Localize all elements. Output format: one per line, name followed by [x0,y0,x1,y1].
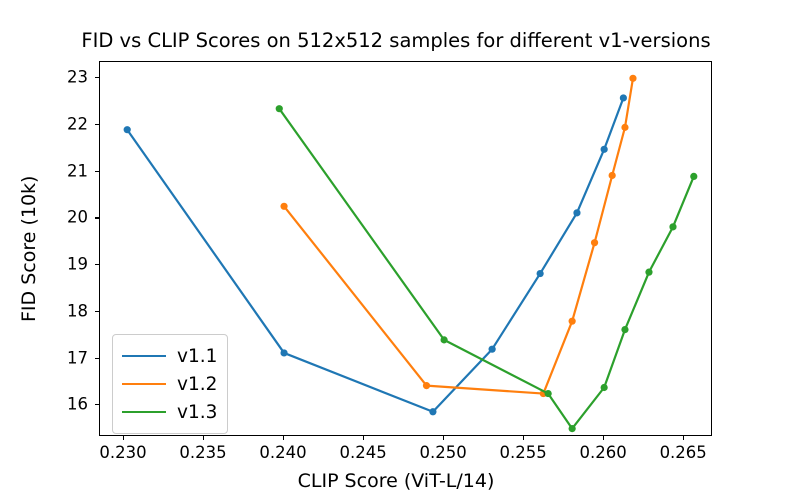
data-point [276,105,283,112]
data-point [620,94,627,101]
legend-item-v1-1[interactable]: v1.1 [122,342,217,370]
data-point [280,349,287,356]
y-axis-label: FID Score (10k) [18,175,40,321]
data-point [545,390,552,397]
data-point [569,425,576,432]
data-point [441,336,448,343]
data-point [645,269,652,276]
legend-item-v1-2[interactable]: v1.2 [122,370,217,398]
y-tick-label: 18 [30,301,88,320]
chart-title: FID vs CLIP Scores on 512x512 samples fo… [0,29,792,52]
data-point [601,384,608,391]
x-tick-label: 0.240 [259,443,306,462]
y-tick-label: 21 [30,161,88,180]
data-point [591,239,598,246]
x-axis-label: CLIP Score (ViT-L/14) [0,470,792,492]
data-point [669,223,676,230]
y-tick-label: 17 [30,348,88,367]
data-point [573,209,580,216]
x-tick-label: 0.235 [179,443,226,462]
data-point [124,126,131,133]
data-point [280,203,287,210]
y-tick-label: 22 [30,115,88,134]
data-point [690,173,697,180]
data-point [609,172,616,179]
x-tick-label: 0.245 [339,443,386,462]
legend-swatch-icon [122,411,166,413]
y-tick-label: 16 [30,395,88,414]
legend-swatch-icon [122,383,166,385]
x-tick-label: 0.255 [500,443,547,462]
data-point [569,318,576,325]
y-tick-label: 23 [30,68,88,87]
x-tick-label: 0.260 [580,443,627,462]
figure: FID vs CLIP Scores on 512x512 samples fo… [0,0,792,504]
data-point [601,146,608,153]
data-point [489,346,496,353]
legend-label: v1.3 [177,402,217,423]
y-tick-label: 20 [30,208,88,227]
x-tick-label: 0.230 [99,443,146,462]
data-point [621,326,628,333]
legend-item-v1-3[interactable]: v1.3 [122,398,217,426]
legend: v1.1v1.2v1.3 [112,334,228,434]
data-point [621,124,628,131]
legend-label: v1.2 [177,374,217,395]
legend-swatch-icon [122,355,166,357]
data-point [429,408,436,415]
series-line-v1-3 [279,109,694,429]
data-point [423,382,430,389]
x-tick-label: 0.265 [660,443,707,462]
y-tick-label: 19 [30,255,88,274]
data-point [537,270,544,277]
x-tick-label: 0.250 [419,443,466,462]
data-point [629,75,636,82]
legend-label: v1.1 [177,346,217,367]
